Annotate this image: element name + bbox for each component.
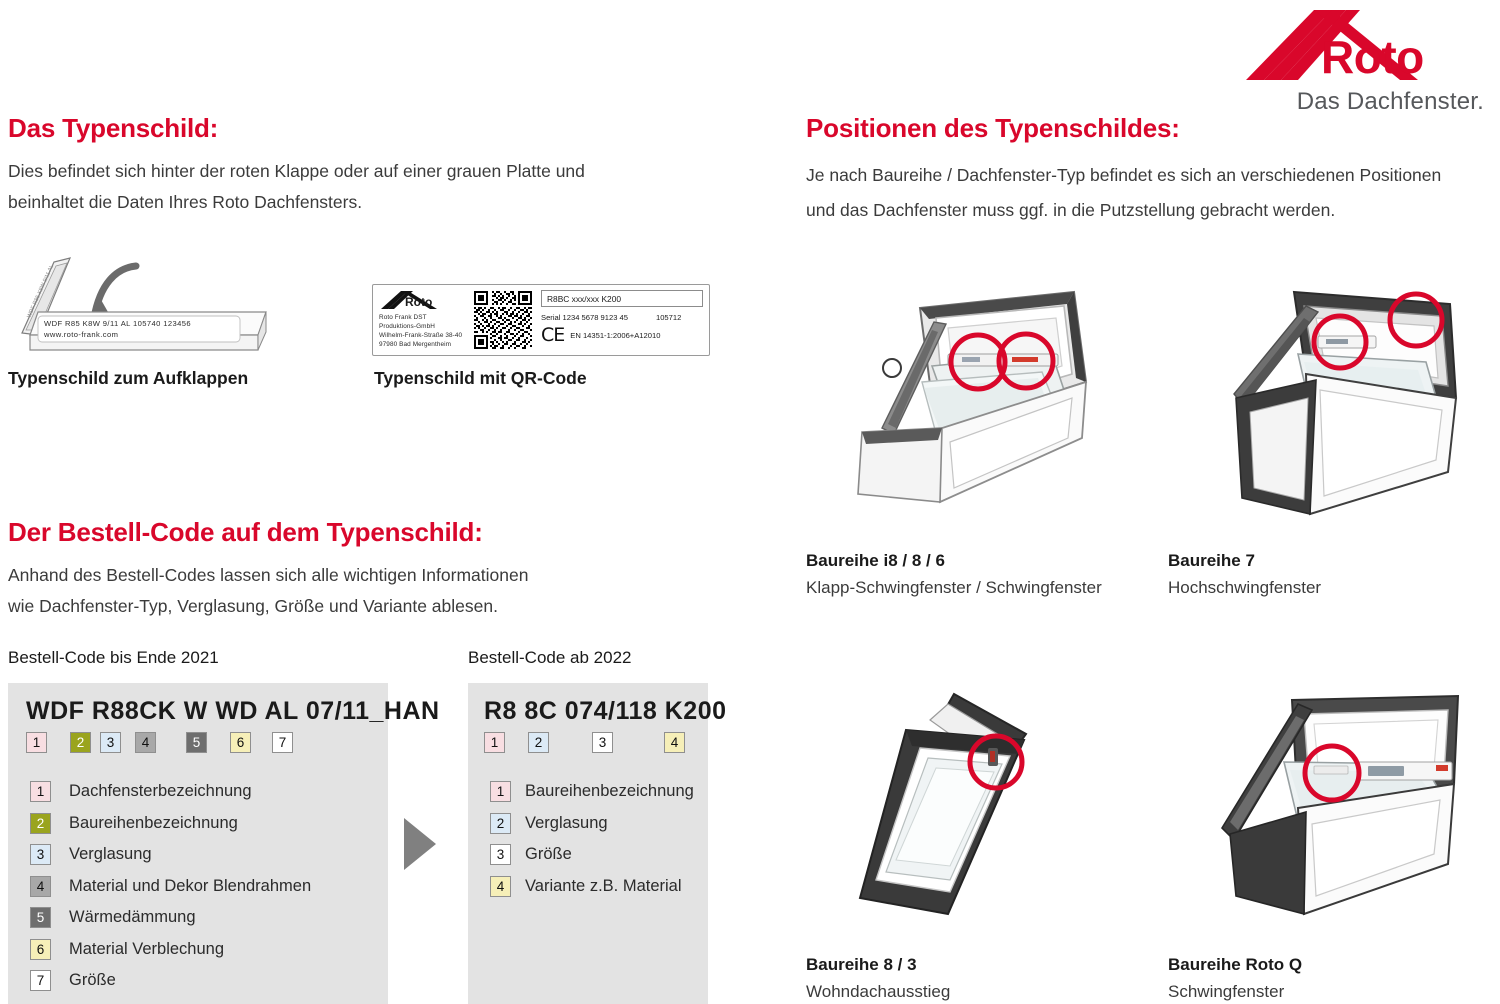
bestell-new-code: R8 8C 074/118 K200 bbox=[468, 683, 708, 726]
address-line-3: Wilhelm-Frank-Straße 38-40 bbox=[379, 331, 465, 340]
window-photo-baureihe-7 bbox=[1198, 262, 1478, 542]
qr-roto-roof-icon: Roto bbox=[379, 290, 443, 310]
legend-label: Baureihenbezeichnung bbox=[69, 814, 238, 833]
qr-label-left: Roto Roto Frank DST Produktions-GmbH Wil… bbox=[373, 285, 469, 355]
legend-badge-7: 7 bbox=[30, 970, 51, 991]
legend-label: Variante z.B. Material bbox=[525, 877, 682, 896]
window-caption-1-subtitle: Klapp-Schwingfenster / Schwingfenster bbox=[806, 578, 1102, 598]
window-caption-4: Baureihe Roto Q Schwingfenster bbox=[1168, 955, 1302, 1002]
ce-mark-icon: CE bbox=[541, 326, 564, 345]
bestell-old-title: Bestell-Code bis Ende 2021 bbox=[8, 648, 219, 668]
positionen-body-line1: Je nach Baureihe / Dachfenster-Typ befin… bbox=[806, 158, 1486, 193]
legend-item: 6Material Verblechung bbox=[30, 934, 388, 966]
qr-serial-label: Serial 1234 5678 9123 45 bbox=[541, 313, 628, 322]
bestell-new-panel: R8 8C 074/118 K200 1234 1Baureihenbezeic… bbox=[468, 683, 708, 1004]
address-line-1: Roto Frank DST bbox=[379, 313, 465, 322]
page-root: Roto Das Dachfenster. Das Typenschild: D… bbox=[0, 0, 1500, 1004]
legend-item: 1Baureihenbezeichnung bbox=[490, 776, 708, 808]
bestell-old-code: WDF R88CK W WD AL 07/11_HAN bbox=[8, 683, 388, 726]
legend-badge-3: 3 bbox=[490, 844, 511, 865]
flap-label-illustration: WDF R85 K8W 9/11 AL WDF R85 K8W 9/11 AL … bbox=[8, 240, 298, 365]
window-caption-2-title: Baureihe 7 bbox=[1168, 551, 1321, 571]
address-line-4: 97980 Bad Mergentheim bbox=[379, 340, 465, 349]
positionen-body: Je nach Baureihe / Dachfenster-Typ befin… bbox=[806, 158, 1486, 228]
legend-label: Material und Dekor Blendrahmen bbox=[69, 877, 311, 896]
window-caption-3: Baureihe 8 / 3 Wohndachausstieg bbox=[806, 955, 950, 1002]
window-photo-baureihe-i8-8-6 bbox=[836, 262, 1116, 542]
legend-badge-3: 3 bbox=[30, 844, 51, 865]
roto-roof-icon: Roto bbox=[1236, 6, 1486, 86]
bestell-new-legend: 1Baureihenbezeichnung2Verglasung3Größe4V… bbox=[468, 776, 708, 902]
window-caption-4-subtitle: Schwingfenster bbox=[1168, 982, 1302, 1002]
window-caption-3-subtitle: Wohndachausstieg bbox=[806, 982, 950, 1002]
legend-item: 2Baureihenbezeichnung bbox=[30, 808, 388, 840]
legend-item: 3Verglasung bbox=[30, 839, 388, 871]
legend-label: Material Verblechung bbox=[69, 940, 224, 959]
bestell-old-badge-row: 1234567 bbox=[8, 732, 388, 758]
typenschild-body-line1: Dies befindet sich hinter der roten Klap… bbox=[8, 156, 628, 187]
window-caption-1-title: Baureihe i8 / 8 / 6 bbox=[806, 551, 1102, 571]
window-photo-baureihe-8-3 bbox=[826, 652, 1126, 942]
legend-label: Verglasung bbox=[69, 845, 152, 864]
legend-label: Größe bbox=[525, 845, 572, 864]
section-typenschild: Das Typenschild: Dies befindet sich hint… bbox=[8, 113, 628, 217]
code-badge-7: 7 bbox=[272, 732, 293, 753]
flap-label-caption: Typenschild zum Aufklappen bbox=[8, 368, 248, 389]
legend-item: 2Verglasung bbox=[490, 808, 708, 840]
legend-badge-6: 6 bbox=[30, 939, 51, 960]
code-badge-5: 5 bbox=[186, 732, 207, 753]
arrow-right-icon bbox=[404, 818, 436, 870]
legend-badge-5: 5 bbox=[30, 907, 51, 928]
code-badge-2: 2 bbox=[70, 732, 91, 753]
bestellcode-body-line2: wie Dachfenster-Typ, Verglasung, Größe u… bbox=[8, 591, 568, 622]
qr-product-code: R8BC xxx/xxx K200 bbox=[541, 290, 703, 307]
legend-badge-2: 2 bbox=[490, 813, 511, 834]
legend-label: Baureihenbezeichnung bbox=[525, 782, 694, 801]
qr-label-caption: Typenschild mit QR-Code bbox=[374, 368, 587, 389]
qr-label-right: R8BC xxx/xxx K200 Serial 1234 5678 9123 … bbox=[537, 285, 709, 355]
qr-typenschild-label: Roto Roto Frank DST Produktions-GmbH Wil… bbox=[372, 284, 710, 356]
section-positionen: Positionen des Typenschildes: Je nach Ba… bbox=[806, 113, 1486, 228]
logo-wordmark: Roto bbox=[1321, 34, 1424, 80]
legend-item: 7Größe bbox=[30, 965, 388, 997]
bestellcode-body-line1: Anhand des Bestell-Codes lassen sich all… bbox=[8, 560, 568, 591]
logo-tagline: Das Dachfenster. bbox=[1297, 88, 1484, 116]
window-photo-baureihe-roto-q bbox=[1186, 652, 1486, 942]
bestellcode-heading: Der Bestell-Code auf dem Typenschild: bbox=[8, 517, 568, 548]
code-badge-1: 1 bbox=[484, 732, 505, 753]
typenschild-heading: Das Typenschild: bbox=[8, 113, 628, 144]
positionen-body-line2: und das Dachfenster muss ggf. in die Put… bbox=[806, 193, 1486, 228]
code-badge-1: 1 bbox=[26, 732, 47, 753]
window-caption-2-subtitle: Hochschwingfenster bbox=[1168, 578, 1321, 598]
roto-logo: Roto Das Dachfenster. bbox=[1236, 6, 1486, 116]
qr-norm-text: EN 14351-1:2006+A12010 bbox=[570, 331, 660, 340]
code-badge-4: 4 bbox=[135, 732, 156, 753]
window-caption-2: Baureihe 7 Hochschwingfenster bbox=[1168, 551, 1321, 598]
legend-badge-1: 1 bbox=[490, 781, 511, 802]
qr-serial-number: 105712 bbox=[656, 313, 681, 322]
legend-item: 1Dachfensterbezeichnung bbox=[30, 776, 388, 808]
legend-item: 3Größe bbox=[490, 839, 708, 871]
legend-label: Verglasung bbox=[525, 814, 608, 833]
svg-text:WDF R85 K8W 9/11 AL 105740 123: WDF R85 K8W 9/11 AL 105740 123456 bbox=[44, 319, 191, 328]
code-badge-3: 3 bbox=[592, 732, 613, 753]
positionen-heading: Positionen des Typenschildes: bbox=[806, 113, 1486, 144]
legend-label: Größe bbox=[69, 971, 116, 990]
code-badge-3: 3 bbox=[100, 732, 121, 753]
qr-manufacturer-address: Roto Frank DST Produktions-GmbH Wilhelm-… bbox=[379, 313, 465, 349]
bestell-new-badge-row: 1234 bbox=[468, 732, 708, 758]
typenschild-body-line2: beinhaltet die Daten Ihres Roto Dachfens… bbox=[8, 187, 628, 218]
legend-item: 5Wärmedämmung bbox=[30, 902, 388, 934]
legend-badge-4: 4 bbox=[30, 876, 51, 897]
window-caption-4-title: Baureihe Roto Q bbox=[1168, 955, 1302, 975]
legend-badge-4: 4 bbox=[490, 876, 511, 897]
typenschild-body: Dies befindet sich hinter der roten Klap… bbox=[8, 156, 628, 217]
qr-logo-wordmark: Roto bbox=[405, 295, 432, 309]
address-line-2: Produktions-GmbH bbox=[379, 322, 465, 331]
code-badge-4: 4 bbox=[664, 732, 685, 753]
svg-text:www.roto-frank.com: www.roto-frank.com bbox=[43, 330, 118, 339]
bestell-new-title: Bestell-Code ab 2022 bbox=[468, 648, 632, 668]
legend-label: Dachfensterbezeichnung bbox=[69, 782, 252, 801]
legend-item: 4Material und Dekor Blendrahmen bbox=[30, 871, 388, 903]
bestell-old-legend: 1Dachfensterbezeichnung2Baureihenbezeich… bbox=[8, 776, 388, 997]
bestell-old-panel: WDF R88CK W WD AL 07/11_HAN 1234567 1Dac… bbox=[8, 683, 388, 1004]
qr-serial-row: Serial 1234 5678 9123 45 105712 bbox=[541, 313, 703, 322]
qr-code-icon bbox=[469, 285, 537, 355]
code-badge-6: 6 bbox=[230, 732, 251, 753]
bestellcode-body: Anhand des Bestell-Codes lassen sich all… bbox=[8, 560, 568, 621]
section-bestellcode: Der Bestell-Code auf dem Typenschild: An… bbox=[8, 517, 568, 621]
window-caption-1: Baureihe i8 / 8 / 6 Klapp-Schwingfenster… bbox=[806, 551, 1102, 598]
window-caption-3-title: Baureihe 8 / 3 bbox=[806, 955, 950, 975]
qr-ce-row: CE EN 14351-1:2006+A12010 bbox=[541, 326, 703, 345]
legend-badge-1: 1 bbox=[30, 781, 51, 802]
legend-item: 4Variante z.B. Material bbox=[490, 871, 708, 903]
legend-label: Wärmedämmung bbox=[69, 908, 196, 927]
code-badge-2: 2 bbox=[528, 732, 549, 753]
legend-badge-2: 2 bbox=[30, 813, 51, 834]
